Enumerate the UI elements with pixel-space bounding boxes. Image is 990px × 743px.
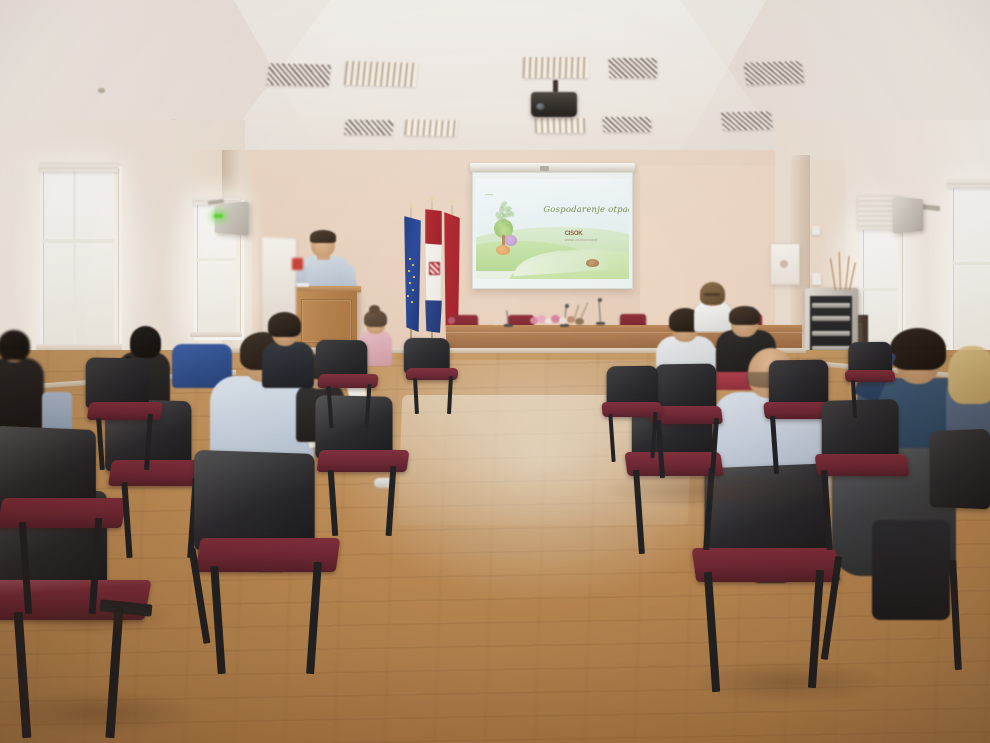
eu-star-3 xyxy=(408,270,410,272)
attendee-edge-hair xyxy=(0,330,30,360)
chair-back xyxy=(86,357,149,408)
ceiling-vent-2 xyxy=(608,58,657,78)
flower-petal-7 xyxy=(575,318,584,325)
light-switch[interactable] xyxy=(812,273,821,285)
right-window-2-frame xyxy=(950,184,990,364)
moderator-glasses-icon xyxy=(704,293,720,296)
right-window-2-blind xyxy=(948,180,990,188)
rack-unit-1 xyxy=(812,303,850,308)
presentation-slide: Gospodarenje otpadom CISOK centar za inf… xyxy=(476,179,629,279)
ceiling-vent-4 xyxy=(602,117,651,132)
ceiling-lamp-3 xyxy=(404,120,457,137)
right-window-1-mullion xyxy=(862,288,898,291)
light-switch-secondary[interactable] xyxy=(812,226,820,235)
moderator-torso xyxy=(694,302,732,332)
ceiling-fixture-1 xyxy=(98,88,105,93)
lectern-paper xyxy=(296,283,309,287)
right-wall-speaker xyxy=(893,197,923,234)
eu-flag xyxy=(404,216,421,332)
left-window-1-mullion-h xyxy=(42,239,114,243)
chair-seat xyxy=(814,454,909,476)
attendee-darkjacket-hair xyxy=(268,312,301,337)
attendee-darkblue-hair xyxy=(890,328,946,370)
microphone-head-2 xyxy=(565,304,569,308)
county-flag xyxy=(444,212,460,332)
chair-back xyxy=(930,429,990,510)
eu-star-8 xyxy=(411,301,413,303)
ceiling-vent-3 xyxy=(344,120,393,136)
left-window-2-mullion xyxy=(196,258,236,261)
conference-hall-photo: Gospodarenje otpadom CISOK centar za inf… xyxy=(0,0,990,743)
ceiling-lamp-1 xyxy=(344,61,418,87)
attendee-darkjacket-torso xyxy=(262,342,314,388)
lectern-front-panel xyxy=(301,299,352,343)
microphone-head-1 xyxy=(598,298,602,302)
attendee-edge-torso xyxy=(0,358,44,430)
ceiling-lamp-4 xyxy=(535,118,586,133)
ceiling-vent-6 xyxy=(744,61,805,85)
rack-unit-3 xyxy=(812,331,850,336)
attendee-pink-bun xyxy=(369,305,380,314)
slide-logo-subtitle: centar za informiranje xyxy=(565,238,598,242)
attendee-blonde-hair xyxy=(948,346,990,404)
flower-arrangement xyxy=(528,310,592,328)
slide-logo-mark: CISOK xyxy=(565,231,583,237)
eu-star-4 xyxy=(413,276,415,278)
left-window-2-sill xyxy=(190,332,242,337)
projector-lens-icon xyxy=(536,103,545,110)
rack-unit-2 xyxy=(812,316,850,321)
projection-screen-housing xyxy=(470,163,635,172)
speaker-power-led-icon xyxy=(214,214,223,218)
attendee-black-hair xyxy=(130,326,161,358)
left-window-1-blind xyxy=(40,163,118,172)
projection-screen-knob[interactable] xyxy=(540,166,549,171)
slide-bush-3 xyxy=(586,259,599,267)
attendee-darkblue-legs xyxy=(872,520,950,620)
chair-back xyxy=(194,450,314,550)
ceiling-vent-5 xyxy=(721,111,773,130)
flower-side-left xyxy=(448,317,455,324)
eu-star-5 xyxy=(409,282,411,284)
notice-panel-dot-icon xyxy=(780,260,788,268)
speaker-hair xyxy=(310,230,336,243)
eu-star-7 xyxy=(407,295,409,297)
croatian-flag-blue-band xyxy=(425,300,442,333)
slide-logo: CISOK centar za informiranje xyxy=(565,231,598,242)
right-window-2-mullion xyxy=(952,262,990,265)
left-window-1-frame xyxy=(40,166,122,352)
flower-petal-5 xyxy=(559,317,567,324)
slide-leaf-cluster-icon xyxy=(491,199,517,221)
slide-bush-1 xyxy=(505,235,517,246)
ceiling-lamp-2 xyxy=(523,57,590,78)
ceiling-vent-1 xyxy=(267,63,332,87)
red-sign xyxy=(292,258,303,270)
eu-star-6 xyxy=(412,289,414,291)
eu-star-2 xyxy=(412,264,414,266)
left-wall-speaker xyxy=(215,201,249,235)
slide-title: Gospodarenje otpadom xyxy=(543,205,629,215)
attendee-blacktee-hair xyxy=(729,306,760,325)
projection-screen: Gospodarenje otpadom CISOK centar za inf… xyxy=(472,172,633,289)
slide-bush-2 xyxy=(496,245,510,255)
croatian-coat-of-arms-icon xyxy=(429,262,440,275)
eu-star-1 xyxy=(409,258,411,260)
left-window-1-mullion-v xyxy=(73,168,76,344)
croatian-flag-red-band xyxy=(425,209,442,245)
flower-side-right xyxy=(493,319,500,325)
slide-bird-icon xyxy=(485,193,493,197)
